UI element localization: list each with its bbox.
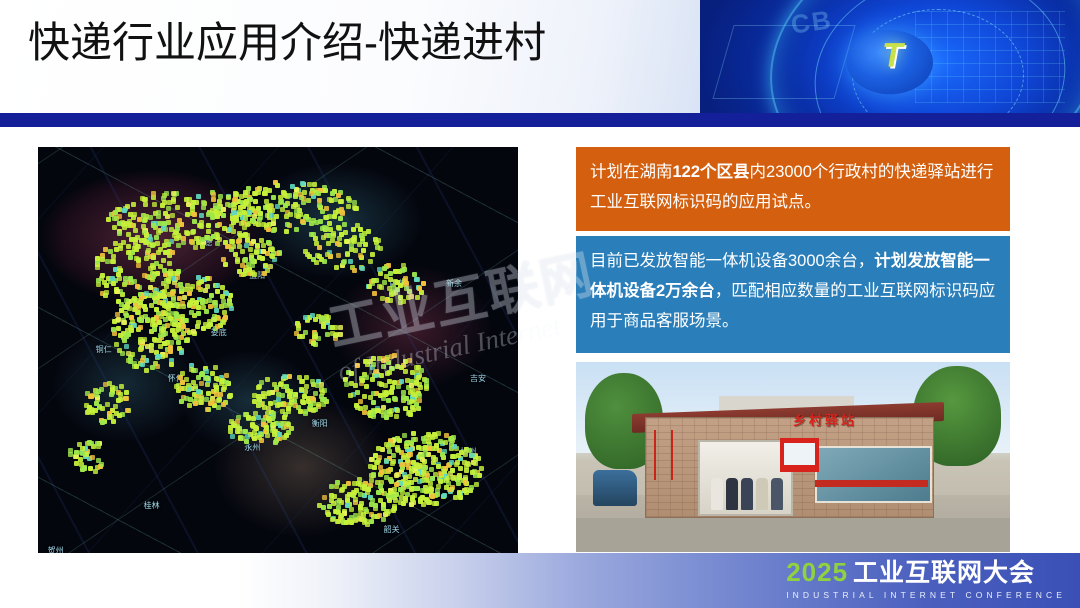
- map-data-point: [296, 326, 301, 331]
- map-data-point: [352, 205, 357, 210]
- map-data-point: [217, 199, 222, 204]
- map-data-point: [383, 383, 388, 388]
- map-data-point: [216, 316, 221, 321]
- map-data-point: [293, 202, 298, 207]
- map-data-point: [394, 414, 399, 419]
- map-data-point: [224, 373, 229, 378]
- map-data-point: [337, 236, 342, 241]
- map-data-point: [415, 471, 420, 476]
- map-data-point: [235, 259, 240, 264]
- map-data-point: [343, 377, 348, 382]
- map-data-point: [316, 402, 321, 407]
- map-data-point: [275, 251, 280, 256]
- map-data-point: [222, 310, 227, 315]
- map-data-point: [449, 442, 454, 447]
- map-data-point: [372, 465, 377, 470]
- map-data-point: [311, 408, 316, 413]
- map-data-point: [138, 325, 143, 330]
- map-data-point: [332, 214, 337, 219]
- map-data-point: [401, 390, 406, 395]
- page-title: 快递行业应用介绍-快递进村: [28, 18, 546, 68]
- map-data-point: [376, 238, 381, 243]
- map-data-point: [256, 206, 261, 211]
- map-data-point: [187, 403, 192, 408]
- map-data-point: [352, 268, 357, 273]
- map-data-point: [138, 300, 143, 305]
- map-data-point: [160, 354, 165, 359]
- map-data-point: [300, 181, 305, 186]
- map-data-point: [386, 263, 391, 268]
- map-data-point: [371, 278, 376, 283]
- map-data-point: [303, 389, 308, 394]
- map-data-point: [417, 382, 422, 387]
- map-data-point: [181, 304, 186, 309]
- map-data-point: [387, 449, 392, 454]
- map-data-point: [467, 448, 472, 453]
- map-data-point: [237, 244, 242, 249]
- map-data-point: [170, 250, 175, 255]
- map-data-point: [398, 295, 403, 300]
- map-city-label: 吉安: [470, 373, 486, 384]
- map-data-point: [226, 195, 231, 200]
- map-data-point: [377, 513, 382, 518]
- map-data-point: [372, 291, 377, 296]
- map-data-point: [237, 212, 242, 217]
- map-data-point: [412, 272, 417, 277]
- map-data-point: [227, 301, 232, 306]
- map-data-point: [338, 332, 343, 337]
- map-data-point: [411, 407, 416, 412]
- map-city-label: 桂林: [144, 500, 160, 511]
- map-data-point: [116, 272, 121, 277]
- map-data-point: [148, 266, 153, 271]
- map-data-point: [80, 451, 85, 456]
- map-data-point: [230, 434, 235, 439]
- map-data-point: [211, 192, 216, 197]
- map-data-point: [414, 277, 419, 282]
- map-data-point: [379, 409, 384, 414]
- map-data-point: [286, 422, 291, 427]
- station-sign-text: 乡村驿站: [793, 410, 857, 429]
- map-data-point: [196, 285, 201, 290]
- map-data-point: [184, 230, 189, 235]
- map-data-point: [285, 222, 290, 227]
- map-data-point: [116, 317, 121, 322]
- conference-logo: 2025 工业互联网大会 INDUSTRIAL INTERNET CONFERE…: [786, 559, 1066, 600]
- map-data-point: [268, 401, 273, 406]
- map-data-point: [148, 215, 153, 220]
- map-data-point: [155, 241, 160, 246]
- map-data-point: [221, 402, 226, 407]
- map-data-point: [190, 284, 195, 289]
- map-data-point: [363, 507, 368, 512]
- map-data-point: [169, 303, 174, 308]
- map-data-point: [413, 477, 418, 482]
- map-data-point: [221, 213, 226, 218]
- map-data-point: [330, 325, 335, 330]
- map-data-point: [167, 261, 172, 266]
- map-data-point: [172, 322, 177, 327]
- map-data-point: [353, 518, 358, 523]
- map-data-point: [244, 199, 249, 204]
- map-data-point: [275, 403, 280, 408]
- map-data-point: [99, 462, 104, 467]
- map-data-point: [254, 249, 259, 254]
- map-data-point: [223, 303, 228, 308]
- map-data-point: [196, 389, 201, 394]
- map-data-point: [151, 317, 156, 322]
- map-data-point: [403, 276, 408, 281]
- map-data-point: [250, 258, 255, 263]
- map-data-point: [306, 198, 311, 203]
- map-data-point: [420, 457, 425, 462]
- map-data-point: [376, 446, 381, 451]
- map-data-point: [199, 213, 204, 218]
- map-data-point: [155, 364, 160, 369]
- map-data-point: [284, 229, 289, 234]
- map-data-point: [251, 239, 256, 244]
- map-data-point: [261, 249, 266, 254]
- map-data-point: [133, 228, 138, 233]
- map-data-point: [419, 496, 424, 501]
- map-data-point: [221, 320, 226, 325]
- map-data-point: [387, 442, 392, 447]
- map-data-point: [402, 267, 407, 272]
- map-data-point: [348, 259, 353, 264]
- map-data-point: [419, 446, 424, 451]
- map-data-point: [309, 191, 314, 196]
- map-data-point: [268, 264, 273, 269]
- map-data-point: [189, 367, 194, 372]
- map-data-point: [389, 390, 394, 395]
- map-data-point: [445, 476, 450, 481]
- map-data-point: [393, 269, 398, 274]
- map-data-point: [390, 385, 395, 390]
- map-data-point: [378, 246, 383, 251]
- map-data-point: [267, 418, 272, 423]
- map-data-point: [271, 414, 276, 419]
- map-data-point: [144, 368, 149, 373]
- map-data-point: [344, 520, 349, 525]
- map-data-point: [164, 284, 169, 289]
- map-data-point: [414, 486, 419, 491]
- map-data-point: [168, 316, 173, 321]
- map-data-point: [211, 197, 216, 202]
- map-data-point: [352, 239, 357, 244]
- map-data-point: [193, 401, 198, 406]
- map-data-point: [464, 468, 469, 473]
- map-data-point: [221, 207, 226, 212]
- map-data-point: [357, 242, 362, 247]
- map-data-point: [408, 412, 413, 417]
- map-data-point: [216, 405, 221, 410]
- map-data-point: [384, 459, 389, 464]
- map-data-point: [126, 232, 131, 237]
- map-data-point: [442, 469, 447, 474]
- map-data-point: [185, 212, 190, 217]
- map-data-point: [124, 344, 129, 349]
- map-data-point: [358, 253, 363, 258]
- map-data-point: [434, 446, 439, 451]
- map-data-point: [169, 362, 174, 367]
- map-data-point: [148, 285, 153, 290]
- map-data-point: [311, 341, 316, 346]
- map-data-point: [119, 384, 124, 389]
- map-data-point: [210, 371, 215, 376]
- map-data-point: [366, 229, 371, 234]
- map-data-point: [112, 225, 117, 230]
- map-data-point: [370, 498, 375, 503]
- map-data-point: [100, 420, 105, 425]
- map-data-point: [251, 416, 256, 421]
- map-data-point: [280, 409, 285, 414]
- map-data-point: [317, 245, 322, 250]
- distribution-map[interactable]: 铜仁怀化宜春新余吉安衡阳永州郴州桂林韶关贺州娄底益阳常德: [38, 147, 518, 557]
- map-data-point: [187, 291, 192, 296]
- map-data-point: [237, 429, 242, 434]
- map-data-point: [451, 476, 456, 481]
- map-data-point: [143, 307, 148, 312]
- map-data-point: [182, 386, 187, 391]
- map-data-point: [74, 450, 79, 455]
- map-data-point: [405, 458, 410, 463]
- map-data-point: [247, 210, 252, 215]
- map-data-point: [200, 300, 205, 305]
- map-data-point: [262, 191, 267, 196]
- map-data-point: [129, 315, 134, 320]
- map-data-point: [302, 190, 307, 195]
- map-data-point: [421, 470, 426, 475]
- map-data-point: [404, 444, 409, 449]
- map-data-point: [228, 429, 233, 434]
- map-data-point: [221, 387, 226, 392]
- map-data-point: [345, 252, 350, 257]
- map-data-point: [207, 319, 212, 324]
- map-data-point: [179, 350, 184, 355]
- map-data-point: [220, 294, 225, 299]
- map-data-point: [84, 403, 89, 408]
- slide-header: CB T 快递行业应用介绍-快递进村: [0, 0, 1080, 113]
- map-data-point: [403, 475, 408, 480]
- map-data-point: [208, 236, 213, 241]
- map-data-point: [409, 294, 414, 299]
- map-data-point: [95, 265, 100, 270]
- map-data-point: [336, 193, 341, 198]
- map-data-point: [256, 222, 261, 227]
- map-data-point: [203, 288, 208, 293]
- map-data-point: [270, 247, 275, 252]
- map-data-point: [100, 406, 105, 411]
- map-data-point: [324, 226, 329, 231]
- map-data-point: [349, 371, 354, 376]
- scooter-icon: [593, 470, 637, 506]
- map-data-point: [458, 466, 463, 471]
- map-data-point: [456, 453, 461, 458]
- map-data-point: [330, 238, 335, 243]
- callout-orange: 计划在湖南122个区县内23000个行政村的快递驿站进行工业互联网标识码的应用试…: [576, 147, 1010, 231]
- map-data-point: [415, 295, 420, 300]
- map-data-point: [158, 344, 163, 349]
- map-data-point: [151, 223, 156, 228]
- map-data-point: [421, 436, 426, 441]
- map-data-point: [203, 376, 208, 381]
- map-data-point: [117, 231, 122, 236]
- map-data-point: [336, 225, 341, 230]
- map-data-point: [320, 317, 325, 322]
- map-data-point: [106, 217, 111, 222]
- map-data-point: [114, 342, 119, 347]
- map-data-point: [470, 470, 475, 475]
- map-data-point: [139, 238, 144, 243]
- map-data-point: [117, 266, 122, 271]
- map-data-point: [230, 239, 235, 244]
- map-data-point: [192, 219, 197, 224]
- map-data-point: [201, 205, 206, 210]
- map-data-point: [336, 253, 341, 258]
- map-data-point: [180, 371, 185, 376]
- map-data-point: [154, 307, 159, 312]
- map-data-point: [355, 390, 360, 395]
- map-data-point: [325, 318, 330, 323]
- map-data-point: [231, 244, 236, 249]
- map-data-point: [360, 266, 365, 271]
- map-data-point: [473, 457, 478, 462]
- map-data-point: [78, 457, 83, 462]
- map-data-point: [100, 257, 105, 262]
- map-data-point: [111, 254, 116, 259]
- map-data-point: [161, 226, 166, 231]
- map-data-point: [417, 286, 422, 291]
- map-data-point: [245, 238, 250, 243]
- map-data-point: [111, 327, 116, 332]
- map-data-point: [310, 313, 315, 318]
- map-data-point: [442, 493, 447, 498]
- map-data-point: [233, 252, 238, 257]
- map-data-point: [170, 291, 175, 296]
- map-data-point: [123, 280, 128, 285]
- map-data-point: [171, 191, 176, 196]
- map-data-point: [151, 191, 156, 196]
- map-data-point: [215, 214, 220, 219]
- map-data-point: [241, 272, 246, 277]
- map-data-point: [149, 348, 154, 353]
- map-data-point: [322, 397, 327, 402]
- map-data-point: [395, 408, 400, 413]
- map-data-point: [194, 200, 199, 205]
- map-data-point: [132, 307, 137, 312]
- map-data-point: [206, 223, 211, 228]
- map-data-point: [132, 296, 137, 301]
- map-data-point: [245, 434, 250, 439]
- map-data-point: [389, 479, 394, 484]
- map-data-point: [239, 194, 244, 199]
- map-data-point: [421, 281, 426, 286]
- map-data-point: [230, 216, 235, 221]
- map-data-point: [343, 230, 348, 235]
- map-data-point: [162, 341, 167, 346]
- map-data-point: [431, 455, 436, 460]
- map-data-point: [129, 328, 134, 333]
- map-data-point: [294, 227, 299, 232]
- map-data-point: [384, 475, 389, 480]
- map-data-point: [133, 237, 138, 242]
- map-data-point: [116, 326, 121, 331]
- map-data-point: [458, 495, 463, 500]
- tech-globe-graphic-icon: CB T: [700, 0, 1080, 113]
- map-data-point: [415, 464, 420, 469]
- map-data-point: [235, 419, 240, 424]
- map-data-point: [313, 391, 318, 396]
- conference-name-cn: 工业互联网大会: [853, 561, 1035, 586]
- map-data-point: [381, 502, 386, 507]
- map-data-point: [265, 411, 270, 416]
- map-data-point: [335, 519, 340, 524]
- map-data-point: [158, 333, 163, 338]
- map-data-point: [113, 210, 118, 215]
- map-data-point: [366, 487, 371, 492]
- map-data-point: [359, 233, 364, 238]
- map-data-point: [377, 267, 382, 272]
- map-data-point: [450, 454, 455, 459]
- map-data-point: [354, 403, 359, 408]
- map-data-point: [215, 324, 220, 329]
- map-data-point: [358, 227, 363, 232]
- map-data-point: [173, 302, 178, 307]
- map-city-label: 新余: [446, 278, 462, 289]
- map-data-point: [346, 204, 351, 209]
- map-data-point: [342, 222, 347, 227]
- map-data-point: [355, 363, 360, 368]
- map-data-point: [185, 283, 190, 288]
- map-data-point: [316, 191, 321, 196]
- map-data-point: [185, 338, 190, 343]
- map-data-point: [433, 472, 438, 477]
- map-data-point: [248, 247, 253, 252]
- map-data-point: [193, 245, 198, 250]
- map-data-point: [257, 402, 262, 407]
- title-accent-bar: [0, 113, 1080, 127]
- map-data-point: [310, 396, 315, 401]
- map-data-point: [339, 199, 344, 204]
- map-data-point: [321, 235, 326, 240]
- map-data-point: [126, 250, 131, 255]
- map-data-point: [212, 300, 217, 305]
- map-data-point: [124, 396, 129, 401]
- map-data-point: [309, 221, 314, 226]
- map-data-point: [240, 249, 245, 254]
- map-data-point: [430, 494, 435, 499]
- map-data-point: [274, 385, 279, 390]
- map-data-point: [293, 192, 298, 197]
- map-data-point: [318, 219, 323, 224]
- map-data-point: [401, 263, 406, 268]
- map-data-point: [315, 383, 320, 388]
- map-data-point: [379, 285, 384, 290]
- map-data-point: [218, 194, 223, 199]
- map-data-point: [206, 229, 211, 234]
- map-data-point: [170, 328, 175, 333]
- map-data-point: [261, 243, 266, 248]
- map-data-point: [377, 356, 382, 361]
- map-data-point: [151, 255, 156, 260]
- map-data-point: [362, 410, 367, 415]
- map-data-point: [224, 380, 229, 385]
- map-data-point: [250, 263, 255, 268]
- map-data-point: [199, 224, 204, 229]
- map-data-point: [223, 315, 228, 320]
- map-data-point: [392, 396, 397, 401]
- map-data-point: [253, 199, 258, 204]
